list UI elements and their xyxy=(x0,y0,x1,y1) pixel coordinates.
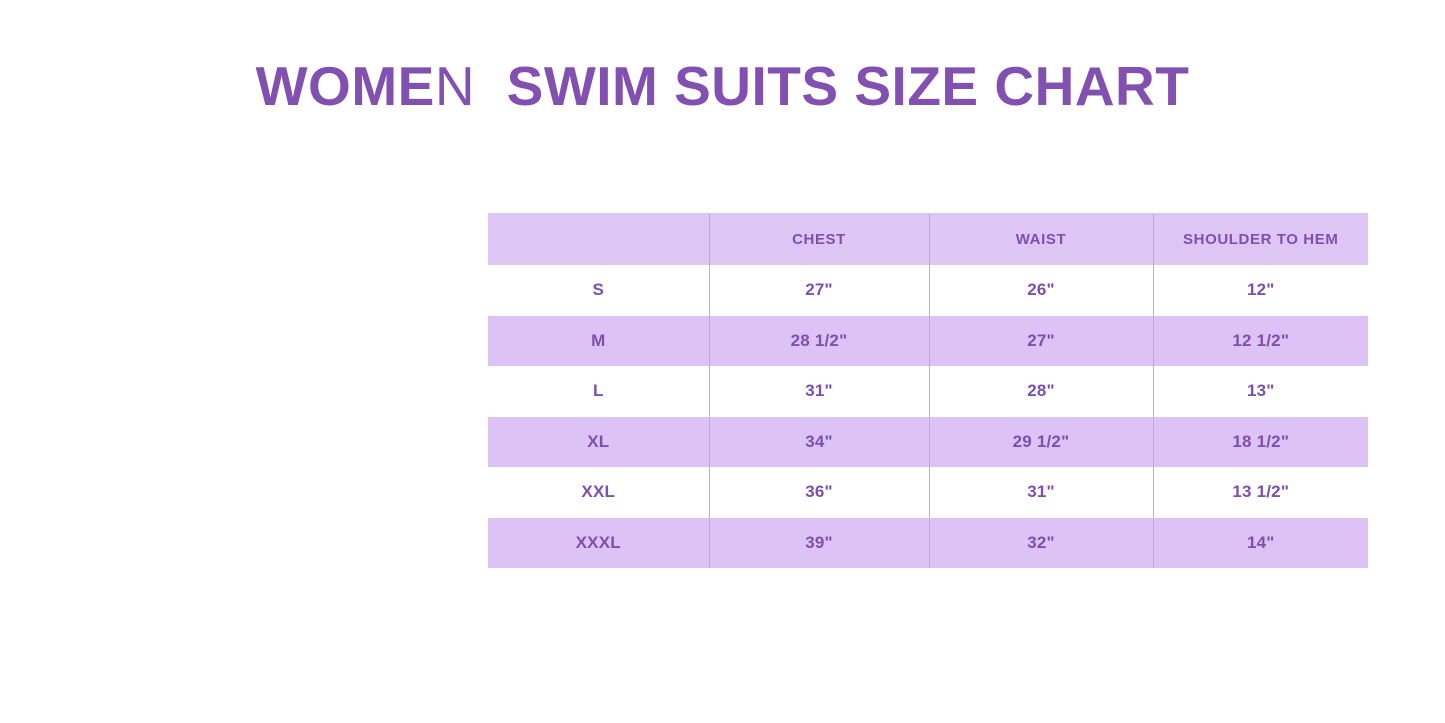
cell-shoulder-to-hem: 13" xyxy=(1153,366,1368,417)
cell-shoulder-to-hem: 12" xyxy=(1153,265,1368,316)
cell-chest: 28 1/2" xyxy=(709,316,929,367)
cell-chest: 31" xyxy=(709,366,929,417)
size-chart-page: WOMEN SWIM SUITS SIZE CHART CHEST WAIST … xyxy=(0,0,1445,723)
page-title-lead: WOME xyxy=(256,55,435,117)
cell-shoulder-to-hem: 18 1/2" xyxy=(1153,417,1368,468)
cell-waist: 27" xyxy=(929,316,1153,367)
table-row: XXL 36" 31" 13 1/2" xyxy=(488,467,1368,518)
cell-shoulder-to-hem: 13 1/2" xyxy=(1153,467,1368,518)
cell-chest: 34" xyxy=(709,417,929,468)
cell-shoulder-to-hem: 12 1/2" xyxy=(1153,316,1368,367)
column-header-shoulder-to-hem: SHOULDER TO HEM xyxy=(1153,213,1368,265)
cell-waist: 31" xyxy=(929,467,1153,518)
cell-chest: 27" xyxy=(709,265,929,316)
cell-size: XL xyxy=(488,417,709,468)
cell-waist: 28" xyxy=(929,366,1153,417)
table-row: XL 34" 29 1/2" 18 1/2" xyxy=(488,417,1368,468)
column-header-waist: WAIST xyxy=(929,213,1153,265)
cell-waist: 26" xyxy=(929,265,1153,316)
column-header-size xyxy=(488,213,709,265)
cell-shoulder-to-hem: 14" xyxy=(1153,518,1368,569)
table-header: CHEST WAIST SHOULDER TO HEM xyxy=(488,213,1368,265)
table-row: XXXL 39" 32" 14" xyxy=(488,518,1368,569)
cell-waist: 32" xyxy=(929,518,1153,569)
cell-size: XXXL xyxy=(488,518,709,569)
cell-chest: 36" xyxy=(709,467,929,518)
table-row: S 27" 26" 12" xyxy=(488,265,1368,316)
cell-chest: 39" xyxy=(709,518,929,569)
cell-size: L xyxy=(488,366,709,417)
size-chart-table: CHEST WAIST SHOULDER TO HEM S 27" 26" 12… xyxy=(488,213,1368,568)
page-title-rest: SWIM SUITS SIZE CHART xyxy=(475,55,1189,117)
table-row: L 31" 28" 13" xyxy=(488,366,1368,417)
column-header-chest: CHEST xyxy=(709,213,929,265)
cell-size: S xyxy=(488,265,709,316)
table-row: M 28 1/2" 27" 12 1/2" xyxy=(488,316,1368,367)
page-title-tail-letter: N xyxy=(435,55,475,117)
table-body: S 27" 26" 12" M 28 1/2" 27" 12 1/2" L 31… xyxy=(488,265,1368,568)
table-header-row: CHEST WAIST SHOULDER TO HEM xyxy=(488,213,1368,265)
size-chart-table-wrapper: CHEST WAIST SHOULDER TO HEM S 27" 26" 12… xyxy=(488,213,1368,568)
cell-size: M xyxy=(488,316,709,367)
cell-size: XXL xyxy=(488,467,709,518)
page-title: WOMEN SWIM SUITS SIZE CHART xyxy=(0,58,1445,116)
cell-waist: 29 1/2" xyxy=(929,417,1153,468)
